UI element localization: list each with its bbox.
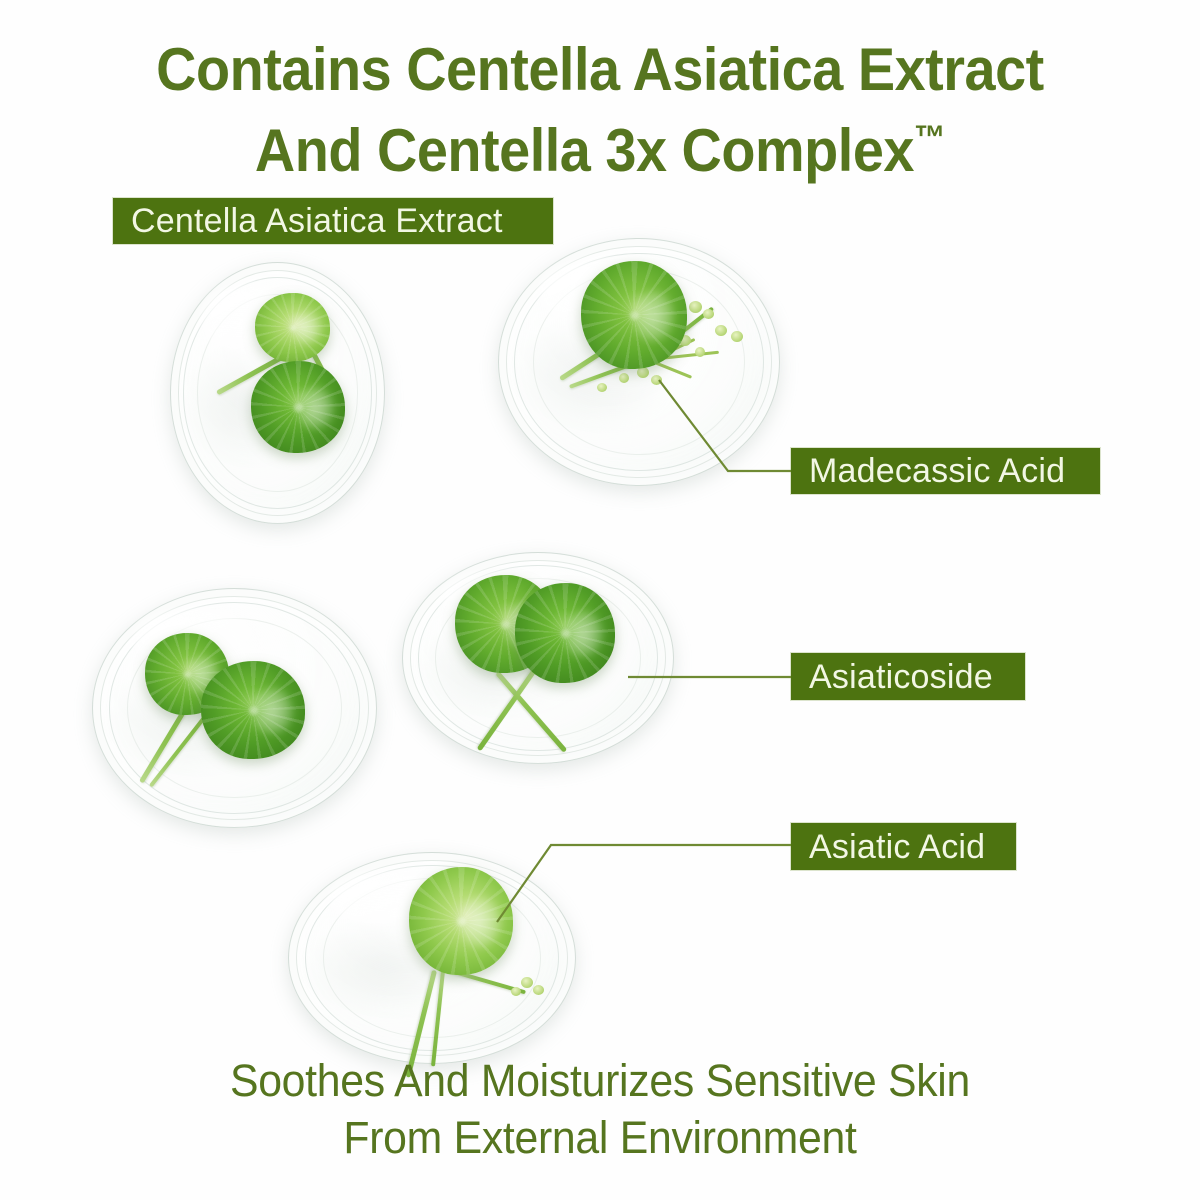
label-madecassic-acid-text: Madecassic Acid — [809, 454, 1065, 488]
footer-tagline-line-1: Soothes And Moisturizes Sensitive Skin — [30, 1052, 1170, 1109]
footer-tagline: Soothes And Moisturizes Sensitive Skin F… — [30, 1052, 1170, 1166]
footer-tagline-line-2: From External Environment — [30, 1109, 1170, 1166]
label-asiaticoside[interactable]: Asiaticoside — [791, 653, 1025, 700]
label-centella-asiatica-extract[interactable]: Centella Asiatica Extract — [113, 198, 553, 244]
label-asiatic-acid[interactable]: Asiatic Acid — [791, 823, 1016, 870]
label-madecassic-acid[interactable]: Madecassic Acid — [791, 448, 1100, 494]
label-asiatic-acid-text: Asiatic Acid — [809, 830, 985, 864]
connector-line-madecassic — [659, 380, 791, 471]
infographic-canvas: Contains Centella Asiatica Extract And C… — [0, 0, 1200, 1200]
callout-connectors — [0, 0, 1200, 1200]
label-centella-asiatica-extract-text: Centella Asiatica Extract — [131, 204, 503, 238]
label-asiaticoside-text: Asiaticoside — [809, 660, 993, 694]
connector-line-asiatic — [497, 845, 791, 922]
